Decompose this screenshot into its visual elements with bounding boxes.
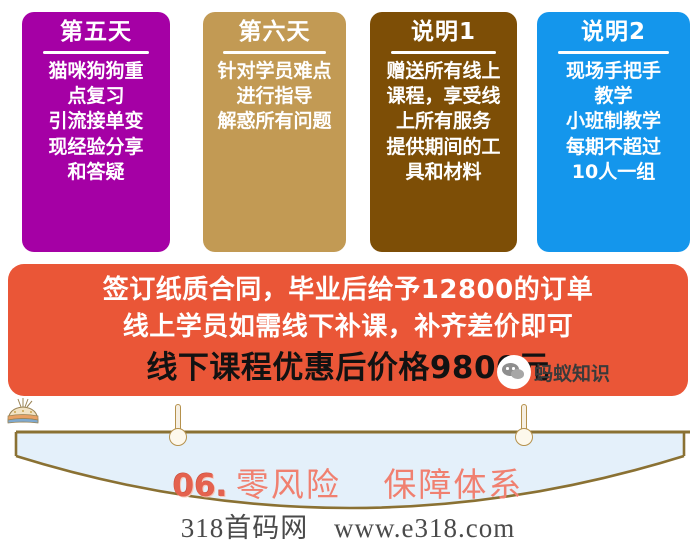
card-line: 10人一组 (566, 160, 661, 185)
card-line: 引流接单变 (48, 109, 143, 134)
banner-line-contract: 签订纸质合同，毕业后给予12800的订单 (103, 272, 593, 309)
card-line: 提供期间的工 (386, 135, 500, 160)
card-line: 教学 (566, 84, 661, 109)
card-line: 解惑所有问题 (217, 109, 331, 134)
card-line: 点复习 (48, 84, 143, 109)
card-line: 针对学员难点 (217, 59, 331, 84)
card-body: 针对学员难点 进行指导 解惑所有问题 (217, 59, 331, 134)
hanging-ring-right (515, 404, 533, 450)
card-body: 猫咪狗狗重 点复习 引流接单变 现经验分享 和答疑 (48, 59, 143, 184)
basket-icon (0, 396, 46, 430)
site-watermark: 318首码网 www.e318.com (0, 506, 696, 545)
card-note2[interactable]: 说明2 现场手把手 教学 小班制教学 每期不超过 10人一组 (537, 12, 690, 252)
card-line: 赠送所有线上 (386, 59, 500, 84)
ring-loop (169, 428, 187, 446)
card-day6[interactable]: 第六天 针对学员难点 进行指导 解惑所有问题 (203, 12, 346, 252)
card-line: 具和材料 (386, 160, 500, 185)
card-line: 小班制教学 (566, 109, 661, 134)
card-line: 课程，享受线 (386, 84, 500, 109)
section-header-area: 06. 零风险 保障体系 318首码网 www.e318.com (0, 396, 696, 545)
card-title: 第六天 (239, 20, 311, 45)
site-watermark-url: www.e318.com (334, 513, 515, 543)
card-divider (558, 51, 668, 54)
card-note1[interactable]: 说明1 赠送所有线上 课程，享受线 上所有服务 提供期间的工 具和材料 (370, 12, 517, 252)
section-title: 06. 零风险 保障体系 (0, 458, 696, 506)
section-number: 06. (173, 468, 228, 504)
card-divider (391, 51, 497, 54)
site-watermark-name: 318首码网 (181, 513, 309, 543)
card-title: 说明1 (411, 20, 476, 45)
section-label-part2: 保障体系 (383, 468, 523, 504)
card-title: 说明2 (581, 20, 646, 45)
card-line: 上所有服务 (386, 109, 500, 134)
pricing-banner: 签订纸质合同，毕业后给予12800的订单 线上学员如需线下补课，补齐差价即可 线… (8, 264, 688, 396)
ring-loop (515, 428, 533, 446)
card-divider (43, 51, 149, 54)
card-divider (223, 51, 326, 54)
card-title: 第五天 (60, 20, 132, 45)
course-day-cards: 第五天 猫咪狗狗重 点复习 引流接单变 现经验分享 和答疑 第六天 针对学员难点… (0, 0, 696, 258)
poster-canvas: 第五天 猫咪狗狗重 点复习 引流接单变 现经验分享 和答疑 第六天 针对学员难点… (0, 0, 696, 545)
card-line: 和答疑 (48, 160, 143, 185)
card-line: 进行指导 (217, 84, 331, 109)
card-body: 赠送所有线上 课程，享受线 上所有服务 提供期间的工 具和材料 (386, 59, 500, 184)
banner-line-price: 线下课程优惠后价格9800元 (146, 348, 549, 388)
card-day5[interactable]: 第五天 猫咪狗狗重 点复习 引流接单变 现经验分享 和答疑 (22, 12, 170, 252)
card-line: 猫咪狗狗重 (48, 59, 143, 84)
card-line: 每期不超过 (566, 135, 661, 160)
card-line: 现场手把手 (566, 59, 661, 84)
card-line: 现经验分享 (48, 135, 143, 160)
section-label-part1: 零风险 (236, 468, 341, 504)
hanging-ring-left (169, 404, 187, 450)
card-body: 现场手把手 教学 小班制教学 每期不超过 10人一组 (566, 59, 661, 184)
banner-line-makeup-class: 线上学员如需线下补课，补齐差价即可 (123, 309, 574, 346)
